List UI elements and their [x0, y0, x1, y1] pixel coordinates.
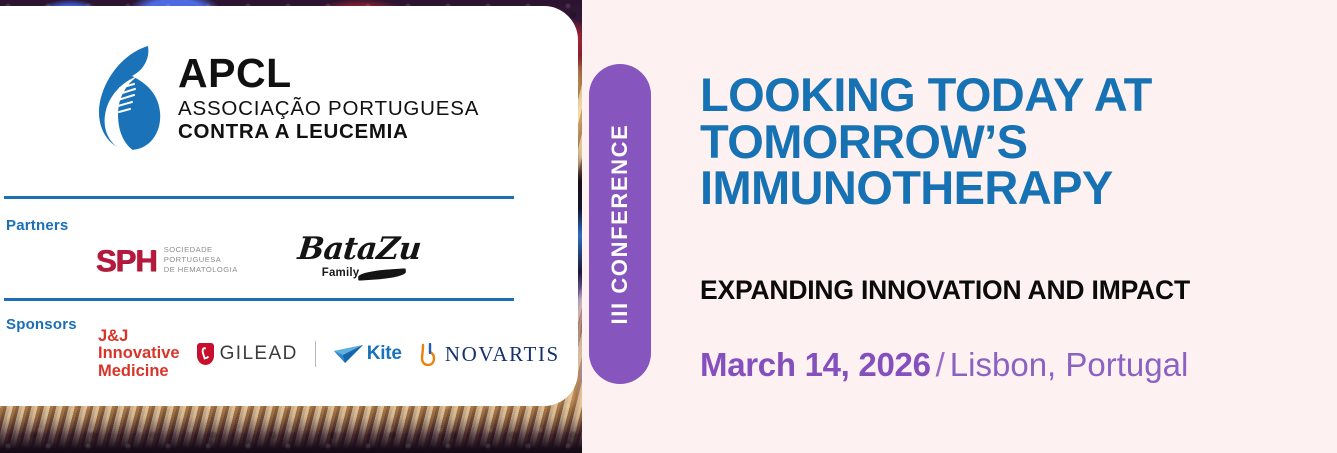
event-location: Lisbon, Portugal — [950, 346, 1189, 383]
batazu-logo: BataZu Family — [298, 234, 402, 286]
jj-line-3: Medicine — [98, 363, 180, 380]
sph-mark: SPH — [96, 245, 157, 276]
logo-separator — [315, 341, 316, 367]
jj-innovative-medicine-logo: J&J Innovative Medicine — [98, 328, 180, 380]
date-separator: / — [936, 346, 945, 383]
gilead-wordmark: GILEAD — [220, 343, 298, 365]
apcl-line-2: CONTRA A LEUCEMIA — [178, 122, 479, 143]
divider-partners — [4, 196, 514, 199]
conference-tab-label: III CONFERENCE — [607, 124, 633, 325]
kite-wordmark: Kite — [367, 343, 402, 365]
apcl-acronym: APCL — [178, 53, 479, 94]
divider-sponsors — [4, 298, 514, 301]
jj-line-2: Innovative — [98, 345, 180, 362]
novartis-logo: NOVARTIS — [419, 342, 560, 367]
sph-line-2: PORTUGUESA — [164, 255, 238, 265]
page-title: LOOKING TODAY AT TOMORROW’S IMMUNOTHERAP… — [700, 72, 1260, 212]
page-subtitle: EXPANDING INNOVATION AND IMPACT — [700, 275, 1300, 306]
date-location: March 14, 2026/Lisbon, Portugal — [700, 348, 1300, 383]
sponsors-label: Sponsors — [6, 316, 77, 333]
novartis-flame-icon — [419, 343, 436, 366]
sph-logo: SPH SOCIEDADE PORTUGUESA DE HEMATOLOGIA — [96, 245, 238, 276]
kite-paper-plane-icon — [333, 344, 364, 364]
sph-line-3: DE HEMATOLOGIA — [164, 265, 238, 275]
partners-label: Partners — [6, 217, 68, 234]
headline-block: LOOKING TODAY AT TOMORROW’S IMMUNOTHERAP… — [700, 0, 1300, 453]
batazu-mark: BataZu — [296, 234, 403, 265]
sponsor-card: APCL ASSOCIAÇÃO PORTUGUESA CONTRA A LEUC… — [0, 6, 578, 406]
apcl-wordmark: APCL ASSOCIAÇÃO PORTUGUESA CONTRA A LEUC… — [178, 53, 479, 142]
batazu-brush-stroke — [357, 268, 406, 280]
jj-line-1: J&J — [98, 328, 180, 345]
partners-logos: SPH SOCIEDADE PORTUGUESA DE HEMATOLOGIA … — [96, 234, 402, 286]
conference-banner: APCL ASSOCIAÇÃO PORTUGUESA CONTRA A LEUC… — [0, 0, 1337, 453]
kite-logo: Kite — [333, 343, 402, 365]
batazu-sub: Family — [322, 267, 360, 279]
event-date: March 14, 2026 — [700, 346, 931, 383]
conference-tab: III CONFERENCE — [589, 64, 651, 384]
gilead-logo: GILEAD — [197, 343, 298, 365]
sponsors-logos: J&J Innovative Medicine GILEAD Kite — [98, 328, 560, 380]
apcl-line-1: ASSOCIAÇÃO PORTUGUESA — [178, 99, 479, 120]
sph-text: SOCIEDADE PORTUGUESA DE HEMATOLOGIA — [164, 245, 238, 275]
apcl-logo: APCL ASSOCIAÇÃO PORTUGUESA CONTRA A LEUC… — [86, 40, 479, 155]
apcl-droplet-icon — [86, 40, 164, 155]
novartis-wordmark: NOVARTIS — [445, 342, 560, 367]
gilead-shield-icon — [197, 343, 214, 365]
sph-line-1: SOCIEDADE — [164, 245, 238, 255]
